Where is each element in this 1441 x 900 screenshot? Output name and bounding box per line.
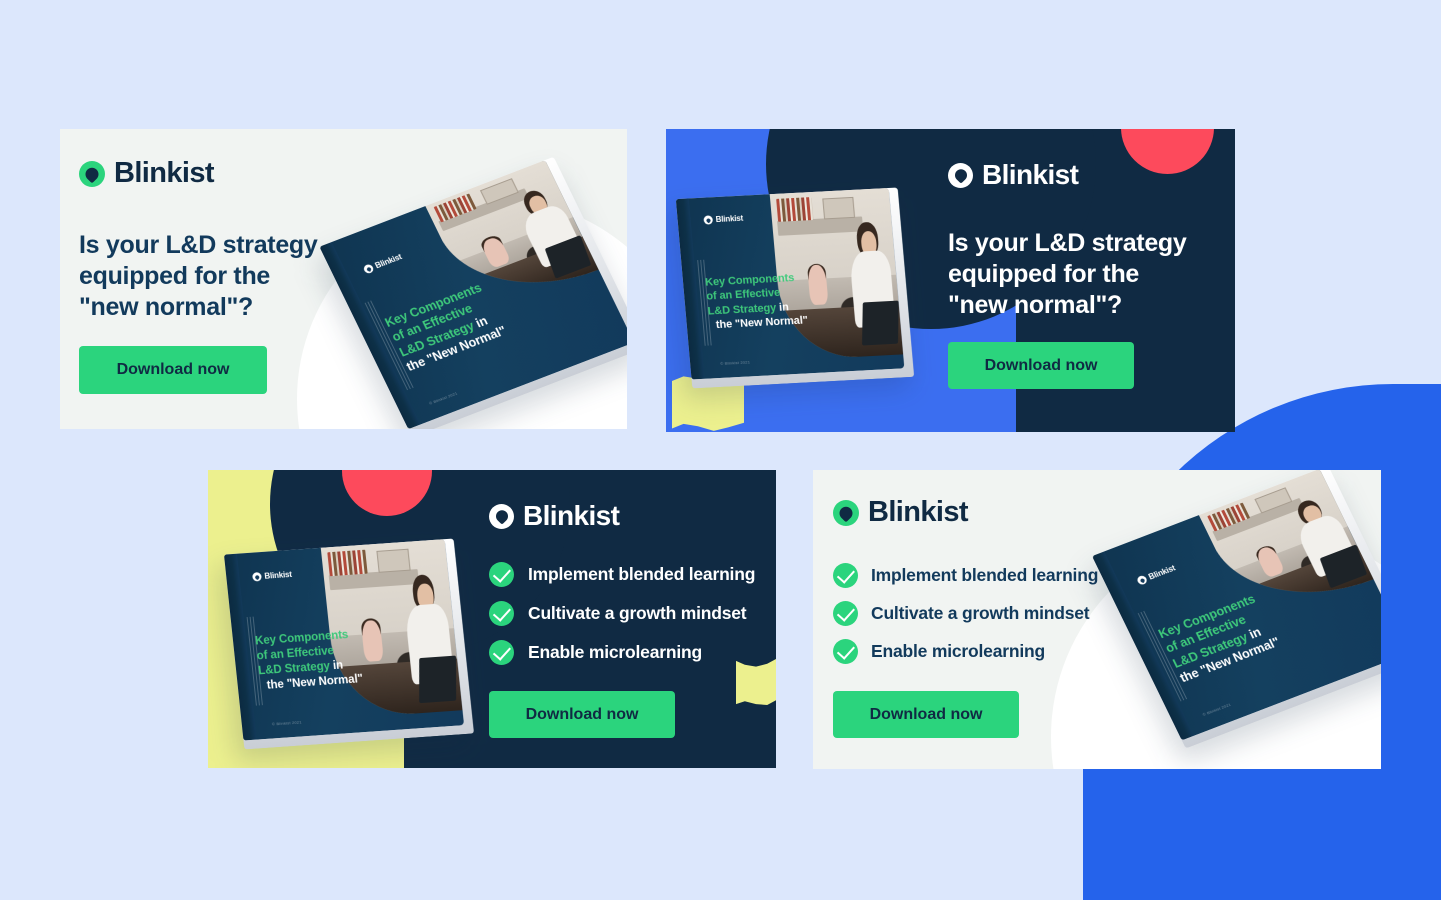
ebook-mockup: Blinkist Key Components of an Effective …: [224, 539, 474, 750]
book-title: Key Components of an Effective L&D Strat…: [254, 624, 418, 694]
checklist-item: Enable microlearning: [833, 639, 1098, 664]
check-icon: [833, 639, 858, 664]
blinkist-wordmark: Blinkist: [523, 500, 619, 532]
photo-books: [776, 197, 814, 222]
book-wordmark: Blinkist: [374, 252, 404, 270]
book-credit: © Blinkist 2021: [720, 359, 750, 366]
blinkist-droplet-icon: [79, 161, 105, 187]
blinkist-droplet-icon: [948, 163, 973, 188]
checklist-item-label: Implement blended learning: [528, 564, 755, 585]
check-icon: [833, 563, 858, 588]
banner2-headline: Is your L&D strategy equipped for the "n…: [948, 228, 1187, 320]
blinkist-logo: Blinkist: [489, 500, 755, 532]
headline-line: equipped for the: [948, 259, 1187, 290]
book-title-segment: in: [332, 659, 343, 672]
headline-line: "new normal"?: [948, 290, 1187, 321]
book-droplet-icon: [252, 572, 262, 582]
banner-dark-checklist: Blinkist Key Components of an Effective …: [208, 470, 776, 768]
book-credit: © Blinkist 2021: [1202, 702, 1232, 717]
download-now-button[interactable]: Download now: [79, 346, 267, 394]
book-droplet-icon: [1136, 574, 1148, 585]
ebook-mockup: Blinkist Key Components of an Effective …: [676, 188, 914, 389]
book-title-segment: in: [779, 301, 790, 313]
blinkist-wordmark: Blinkist: [982, 159, 1078, 191]
blinkist-wordmark: Blinkist: [868, 496, 968, 529]
book-cover: Blinkist Key Components of an Effective …: [224, 539, 464, 740]
checklist-item-label: Enable microlearning: [528, 642, 702, 663]
book-droplet-icon: [362, 263, 374, 274]
book-credit: © Blinkist 2021: [272, 719, 302, 726]
checklist-item: Enable microlearning: [489, 640, 755, 665]
benefits-checklist: Implement blended learning Cultivate a g…: [489, 562, 755, 665]
book-blinkist-logo: Blinkist: [362, 252, 403, 274]
checklist-item: Cultivate a growth mindset: [489, 601, 755, 626]
banner-light-headline: Blinkist Is your L&D strategy equipped f…: [60, 129, 627, 429]
blinkist-logo: Blinkist: [833, 496, 1098, 529]
checklist-item: Implement blended learning: [489, 562, 755, 587]
book-wordmark: Blinkist: [264, 570, 292, 581]
checklist-item-label: Cultivate a growth mindset: [528, 603, 746, 624]
checklist-item: Cultivate a growth mindset: [833, 601, 1098, 626]
checklist-item: Implement blended learning: [833, 563, 1098, 588]
blinkist-logo: Blinkist: [948, 159, 1187, 191]
photo-picture-frame: [822, 197, 855, 220]
banner-dark-headline: Blinkist Key Components of an Effective …: [666, 129, 1235, 432]
book-title: Key Components of an Effective L&D Strat…: [705, 268, 860, 333]
benefits-checklist: Implement blended learning Cultivate a g…: [833, 563, 1098, 664]
blinkist-droplet-icon: [833, 500, 859, 526]
book-wordmark: Blinkist: [1147, 564, 1177, 582]
book-wordmark: Blinkist: [715, 214, 743, 224]
photo-books: [328, 550, 368, 577]
book-droplet-icon: [703, 215, 713, 224]
headline-line: Is your L&D strategy: [948, 228, 1187, 259]
book-blinkist-logo: Blinkist: [703, 214, 743, 225]
banner-light-checklist: Blinkist Implement blended learning Cult…: [813, 470, 1381, 769]
download-now-button[interactable]: Download now: [948, 342, 1134, 389]
checklist-item-label: Enable microlearning: [871, 641, 1045, 662]
check-icon: [489, 562, 514, 587]
check-icon: [489, 640, 514, 665]
check-icon: [833, 601, 858, 626]
photo-laptop: [862, 301, 899, 346]
book-blinkist-logo: Blinkist: [252, 570, 292, 582]
download-now-button[interactable]: Download now: [489, 691, 675, 738]
photo-picture-frame: [376, 549, 410, 573]
blinkist-wordmark: Blinkist: [114, 157, 214, 190]
blinkist-droplet-icon: [489, 504, 514, 529]
checklist-item-label: Implement blended learning: [871, 565, 1098, 586]
checklist-item-label: Cultivate a growth mindset: [871, 603, 1089, 624]
photo-laptop: [420, 656, 457, 703]
check-icon: [489, 601, 514, 626]
download-now-button[interactable]: Download now: [833, 691, 1019, 738]
book-blinkist-logo: Blinkist: [1136, 564, 1177, 586]
book-cover: Blinkist Key Components of an Effective …: [676, 188, 905, 379]
book-credit: © Blinkist 2021: [428, 391, 458, 406]
